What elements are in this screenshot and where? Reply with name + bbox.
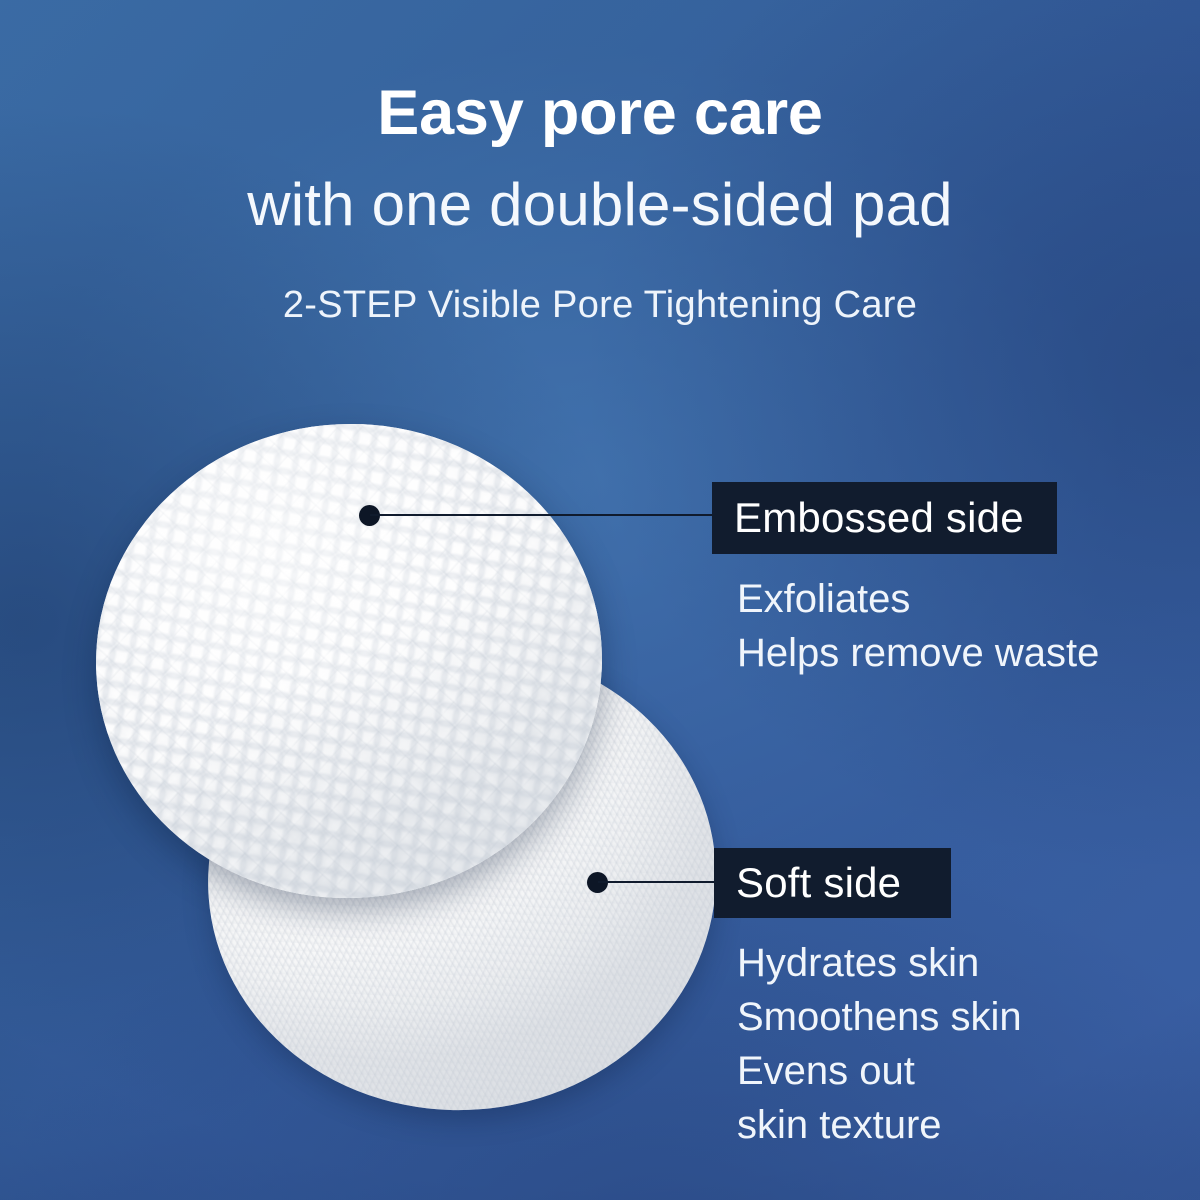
- soft-side-label-text: Soft side: [736, 859, 901, 907]
- benefit-item: Hydrates skin: [737, 936, 1022, 990]
- embossed-pad-image: [84, 411, 614, 911]
- embossed-side-label: Embossed side: [712, 482, 1057, 554]
- benefit-item: skin texture: [737, 1098, 1022, 1152]
- benefit-item: Evens out: [737, 1044, 1022, 1098]
- embossed-pad-shading: [84, 411, 614, 911]
- soft-benefits-list: Hydrates skin Smoothens skin Evens out s…: [737, 936, 1022, 1152]
- soft-side-label: Soft side: [714, 848, 951, 918]
- benefit-item: Exfoliates: [737, 572, 1099, 626]
- embossed-callout-line: [370, 514, 714, 516]
- page-title: Easy pore care: [0, 82, 1200, 145]
- product-infographic: Easy pore care with one double-sided pad…: [0, 0, 1200, 1200]
- benefit-item: Helps remove waste: [737, 626, 1099, 680]
- embossed-benefits-list: Exfoliates Helps remove waste: [737, 572, 1099, 680]
- page-tagline: 2-STEP Visible Pore Tightening Care: [0, 286, 1200, 324]
- soft-callout-line: [598, 881, 716, 883]
- benefit-item: Smoothens skin: [737, 990, 1022, 1044]
- page-subtitle: with one double-sided pad: [0, 175, 1200, 235]
- embossed-side-label-text: Embossed side: [734, 494, 1024, 542]
